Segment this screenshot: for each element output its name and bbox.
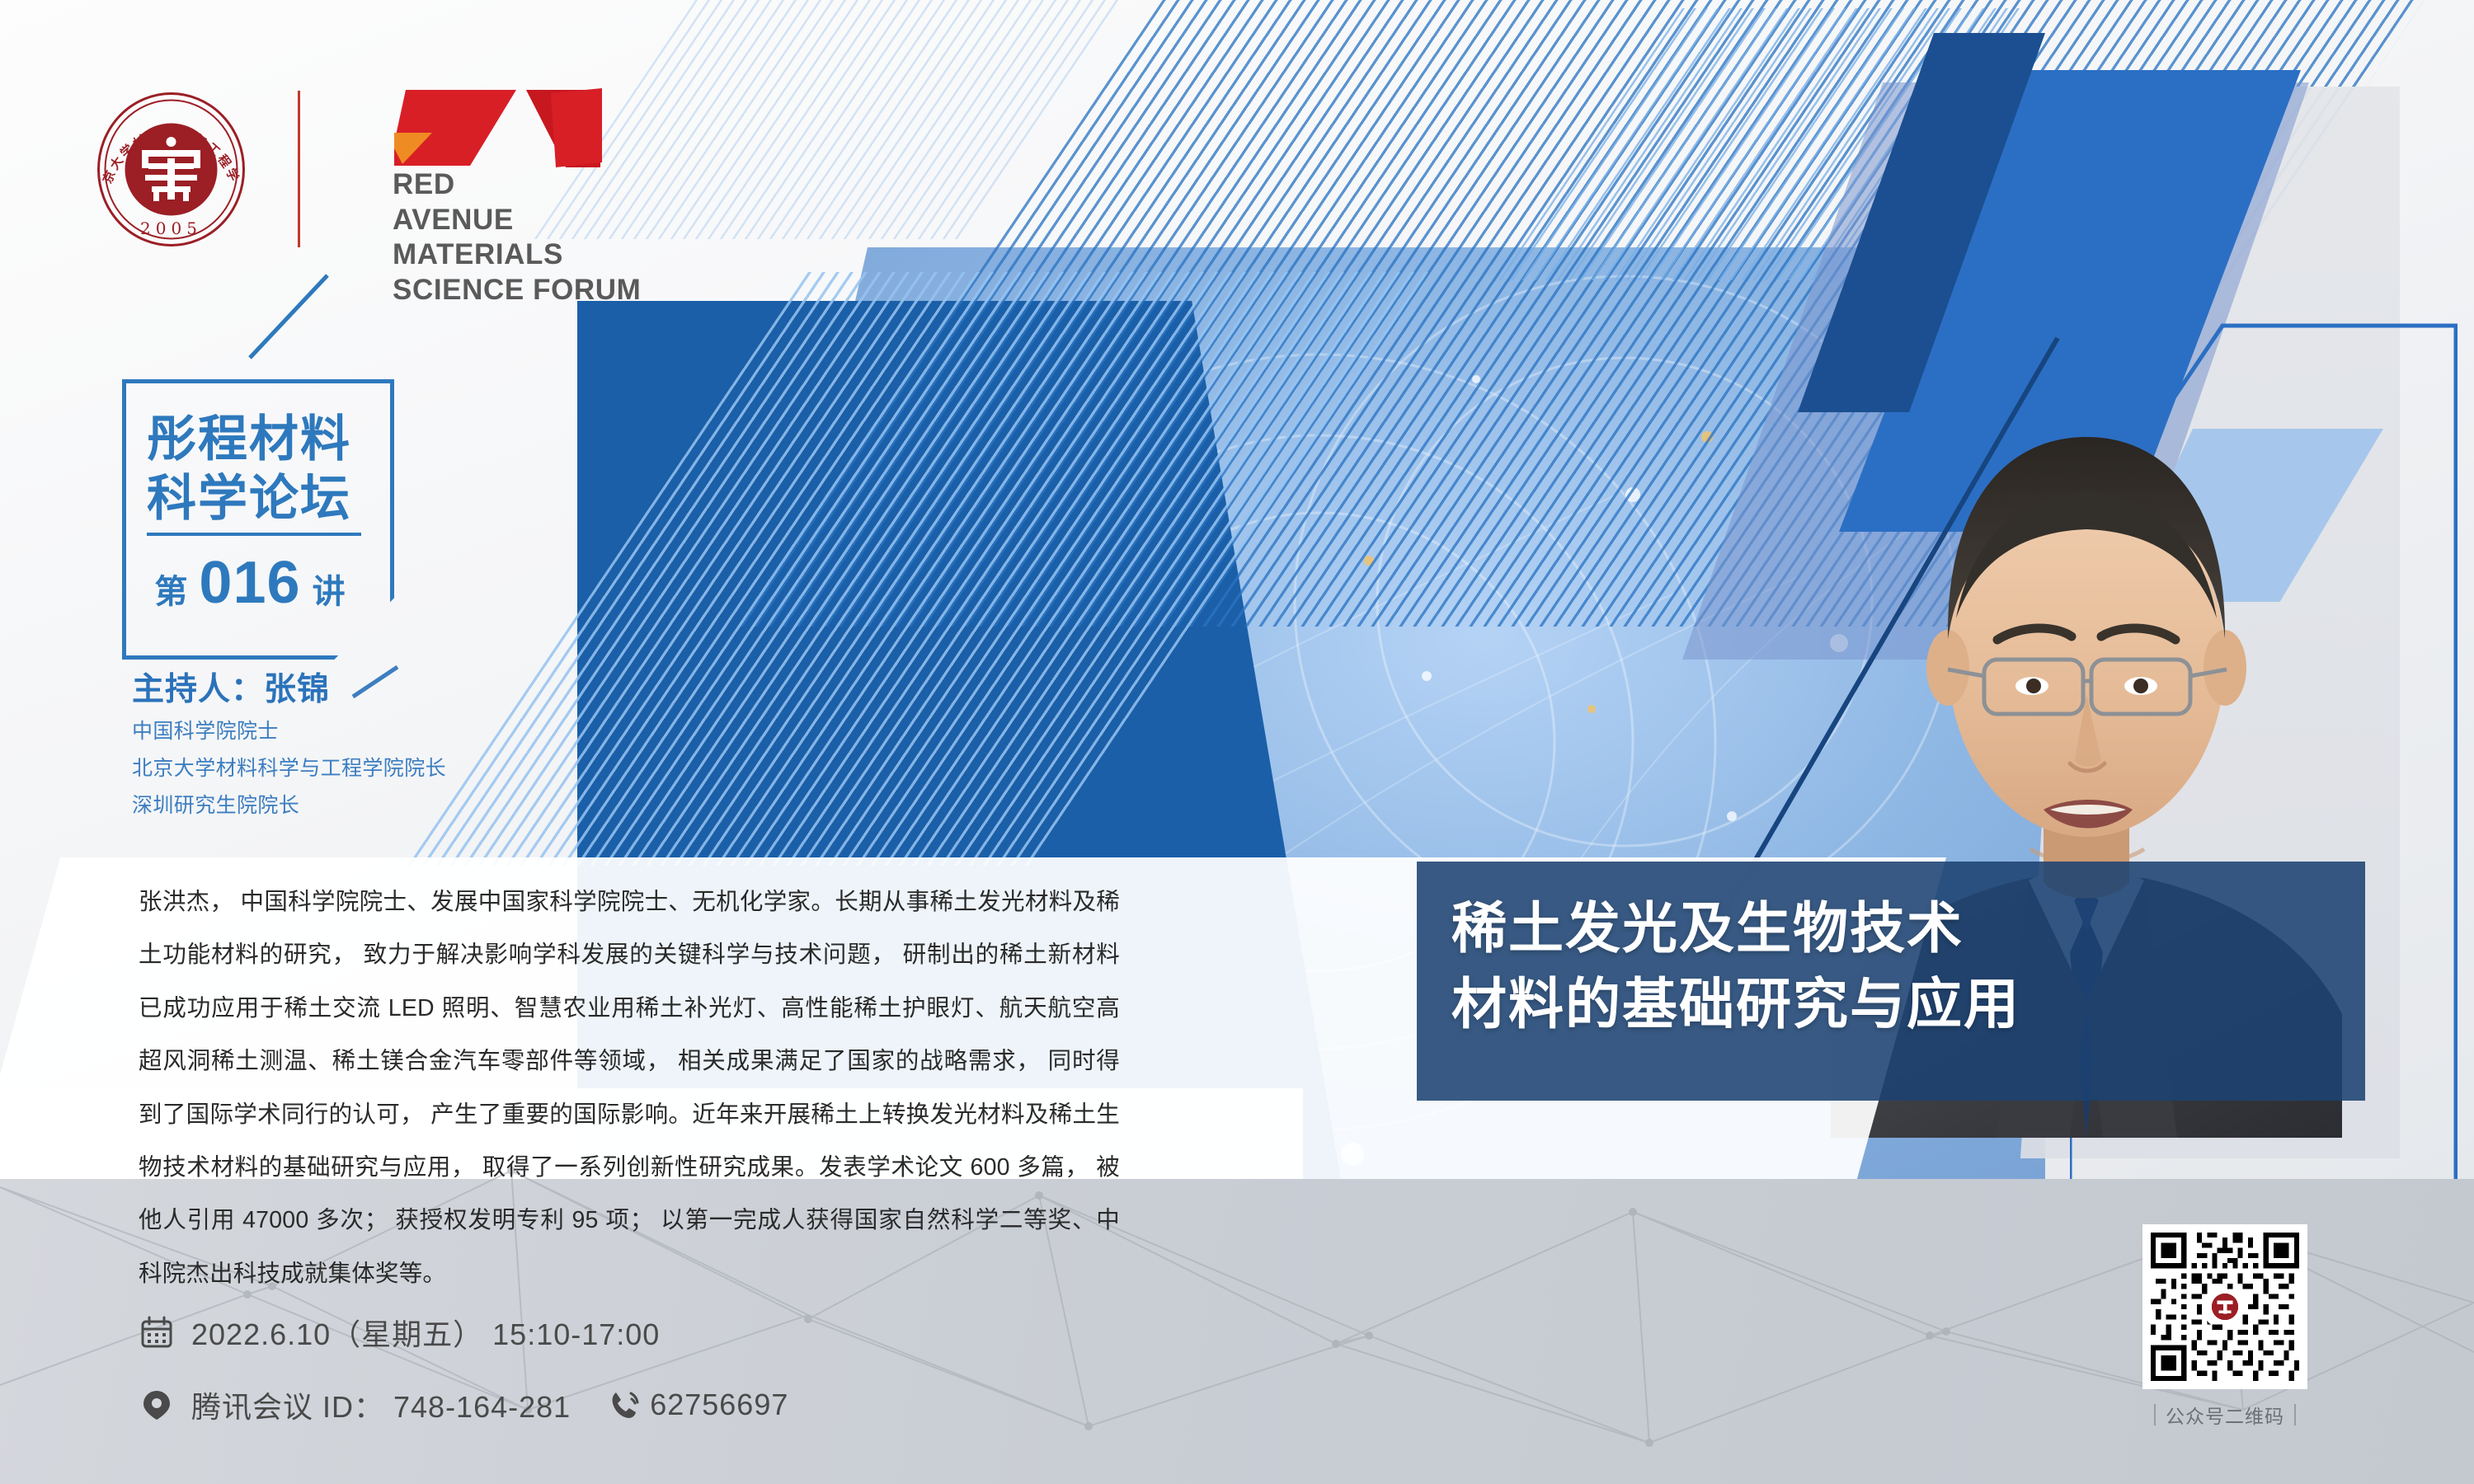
badge-rule bbox=[147, 533, 361, 536]
host-slash-decoration bbox=[348, 664, 404, 704]
badge-lecture-number-row: 第 016 讲 bbox=[122, 549, 378, 617]
slash-icon bbox=[348, 664, 404, 700]
host-affiliation-2: 北京大学材料科学与工程学院院长 bbox=[132, 753, 594, 784]
red-avenue-mark-icon bbox=[394, 85, 790, 171]
meeting-platform-id: 腾讯会议 ID： 748-164-281 bbox=[191, 1383, 571, 1426]
badge-title-line2: 科学论坛 bbox=[122, 458, 376, 530]
qr-code-image[interactable] bbox=[2142, 1224, 2307, 1389]
speaker-bio-text: 张洪杰， 中国科学院院士、发展中国家科学院院士、无机化学家。长期从事稀土发光材料… bbox=[139, 876, 1120, 1300]
badge-prefix: 第 bbox=[154, 565, 187, 613]
qr-caption: 公众号二维码 bbox=[2166, 1401, 2284, 1429]
meeting-phone: 62756697 bbox=[650, 1388, 788, 1422]
lecture-title-line2: 材料的基础研究与应用 bbox=[1451, 966, 2359, 1042]
badge-suffix: 讲 bbox=[313, 565, 346, 613]
meeting-platform-row: 腾讯会议 ID： 748-164-281 62756697 bbox=[140, 1383, 788, 1426]
host-block: 主持人：张锦 中国科学院院士 北京大学材料科学与工程学院院长 深圳研究生院院长 bbox=[132, 664, 594, 821]
qr-code-block[interactable]: 公众号二维码 bbox=[2142, 1224, 2307, 1429]
lecture-poster: 北京大学材料科学与工程学院 2005 bbox=[0, 0, 2474, 1484]
lecture-title-line1: 稀土发光及生物技术 bbox=[1451, 890, 2359, 966]
qr-caption-bar-left bbox=[2154, 1404, 2156, 1425]
phone-icon bbox=[609, 1389, 640, 1421]
ra-line-2: AVENUE bbox=[393, 203, 641, 238]
ra-line-1: RED bbox=[393, 167, 641, 203]
pku-seal-icon: 北京大学材料科学与工程学院 2005 bbox=[91, 89, 252, 250]
host-name: 主持人：张锦 bbox=[132, 664, 330, 710]
pku-seal-logo: 北京大学材料科学与工程学院 2005 bbox=[91, 89, 252, 250]
badge-tail-stroke bbox=[235, 272, 334, 363]
meeting-datetime: 2022.6.10（星期五） 15:10-17:00 bbox=[191, 1311, 660, 1354]
red-avenue-wordmark: RED AVENUE MATERIALS SCIENCE FORUM bbox=[393, 167, 641, 308]
location-pin-icon bbox=[140, 1388, 173, 1421]
red-avenue-logo: RED AVENUE MATERIALS SCIENCE FORUM bbox=[351, 87, 813, 251]
qr-caption-bar-right bbox=[2294, 1404, 2296, 1425]
forum-badge: 彤程材料 科学论坛 第 016 讲 bbox=[122, 379, 394, 660]
calendar-icon bbox=[140, 1316, 173, 1349]
host-affiliation-1: 中国科学院院士 bbox=[132, 716, 594, 747]
meeting-datetime-row: 2022.6.10（星期五） 15:10-17:00 bbox=[140, 1311, 788, 1354]
meeting-info: 2022.6.10（星期五） 15:10-17:00 腾讯会议 ID： 748-… bbox=[140, 1311, 788, 1456]
badge-number: 016 bbox=[199, 549, 300, 617]
ra-line-3: MATERIALS bbox=[393, 237, 641, 273]
header-logos: 北京大学材料科学与工程学院 2005 bbox=[91, 87, 813, 251]
svg-text:2005: 2005 bbox=[140, 218, 202, 238]
qr-caption-row: 公众号二维码 bbox=[2142, 1401, 2307, 1429]
lecture-title: 稀土发光及生物技术 材料的基础研究与应用 bbox=[1451, 890, 2359, 1043]
host-affiliation-3: 深圳研究生院院长 bbox=[132, 790, 594, 821]
qr-code-icon[interactable] bbox=[2151, 1233, 2299, 1381]
logo-divider bbox=[298, 91, 300, 247]
ra-line-4: SCIENCE FORUM bbox=[393, 273, 641, 308]
